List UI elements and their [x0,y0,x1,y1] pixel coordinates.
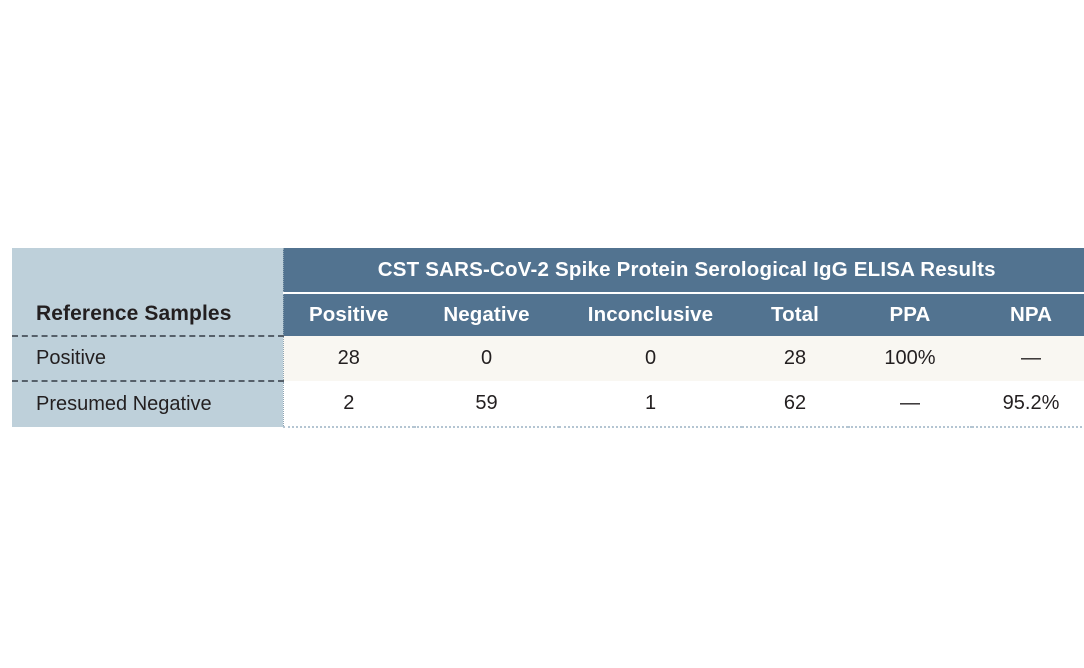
cell-presumed-negative-negative: 59 [414,381,559,427]
results-table-container: CST SARS-CoV-2 Spike Protein Serological… [0,248,1084,428]
cell-positive-total: 28 [742,336,848,381]
column-header-npa: NPA [972,293,1084,336]
column-header-reference-samples: Reference Samples [6,293,283,336]
column-header-positive: Positive [283,293,414,336]
column-header-inconclusive: Inconclusive [559,293,742,336]
cell-positive-ppa: 100% [848,336,972,381]
row-label-presumed-negative: Presumed Negative [6,381,283,427]
cell-positive-positive: 28 [283,336,414,381]
cell-positive-inconclusive: 0 [559,336,742,381]
column-header-negative: Negative [414,293,559,336]
table-row: Presumed Negative 2 59 1 62 — 95.2% [6,381,1084,427]
cell-presumed-negative-positive: 2 [283,381,414,427]
stub-title-spacer [6,248,283,293]
figure-canvas: CST SARS-CoV-2 Spike Protein Serological… [0,0,1084,668]
table-column-header-row: Reference Samples Positive Negative Inco… [6,293,1084,336]
row-label-positive: Positive [6,336,283,381]
table-row: Positive 28 0 0 28 100% — [6,336,1084,381]
table-title-row: CST SARS-CoV-2 Spike Protein Serological… [6,248,1084,293]
assay-group-header: CST SARS-CoV-2 Spike Protein Serological… [283,248,1084,293]
cell-positive-negative: 0 [414,336,559,381]
results-table: CST SARS-CoV-2 Spike Protein Serological… [0,248,1084,428]
column-header-total: Total [742,293,848,336]
table-head: CST SARS-CoV-2 Spike Protein Serological… [6,248,1084,336]
cell-presumed-negative-inconclusive: 1 [559,381,742,427]
cell-presumed-negative-total: 62 [742,381,848,427]
cell-presumed-negative-npa: 95.2% [972,381,1084,427]
cell-presumed-negative-ppa: — [848,381,972,427]
cell-positive-npa: — [972,336,1084,381]
column-header-ppa: PPA [848,293,972,336]
table-body: Positive 28 0 0 28 100% — Presumed Negat… [6,336,1084,427]
